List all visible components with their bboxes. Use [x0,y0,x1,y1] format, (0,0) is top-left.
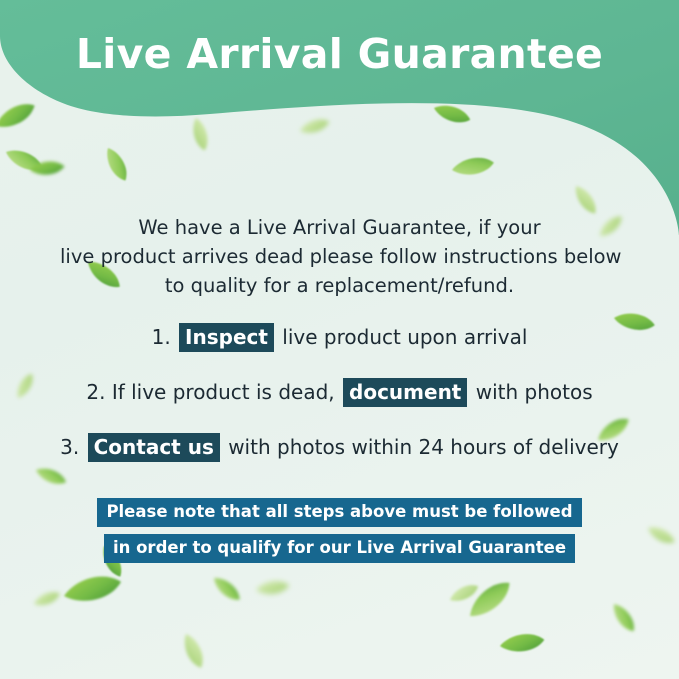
step-item-3: 3. Contact us with photos within 24 hour… [0,430,679,464]
step-text-2: with photos [476,380,593,404]
intro-line-1: We have a Live Arrival Guarantee, if you… [60,213,619,242]
intro-line-3: to quality for a replacement/refund. [60,271,619,300]
footer-note-row-1: Please note that all steps above must be… [0,498,679,534]
footer-note-line-1: Please note that all steps above must be… [97,498,581,527]
page-title: Live Arrival Guarantee [0,30,679,78]
step-item-1: 1. Inspect live product upon arrival [0,320,679,354]
live-arrival-guarantee-infographic: Live Arrival Guarantee [0,0,679,679]
footer-note-row-2: in order to qualify for our Live Arrival… [0,534,679,570]
step-highlight-document: document [343,378,467,407]
step-pretext-2: If live product is dead, [112,380,335,404]
footer-note: Please note that all steps above must be… [0,498,679,570]
step-number-3: 3. [60,435,79,459]
step-highlight-contact-us: Contact us [88,433,220,462]
footer-note-line-2: in order to qualify for our Live Arrival… [104,534,575,563]
step-item-2: 2. If live product is dead, document wit… [0,375,679,409]
step-number-2: 2. [86,380,105,404]
intro-line-2: live product arrives dead please follow … [60,242,619,271]
step-text-1: live product upon arrival [282,325,527,349]
intro-paragraph: We have a Live Arrival Guarantee, if you… [60,213,619,300]
step-highlight-inspect: Inspect [179,323,274,352]
content-area: We have a Live Arrival Guarantee, if you… [0,0,679,679]
steps-list: 1. Inspect live product upon arrival 2. … [0,320,679,485]
step-text-3: with photos within 24 hours of delivery [228,435,619,459]
step-number-1: 1. [152,325,171,349]
